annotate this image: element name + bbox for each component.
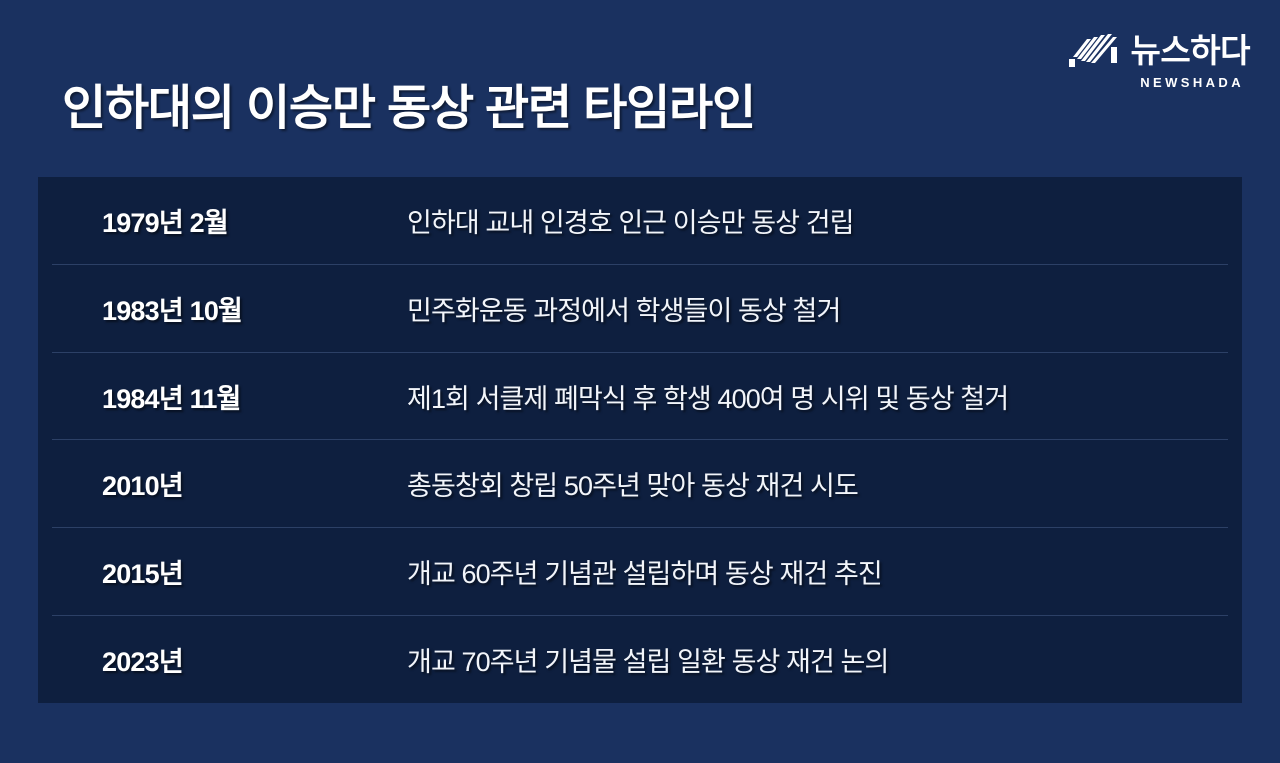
brand-logo[interactable]: 뉴스하다 NEWSHADA (1034, 28, 1250, 94)
table-row: 2015년 개교 60주년 기념관 설립하며 동상 재건 추진 (52, 528, 1228, 616)
header: 인하대의 이승만 동상 관련 타임라인 뉴스하다 (0, 0, 1280, 176)
timeline-panel: 1979년 2월 인하대 교내 인경호 인근 이승만 동상 건립 1983년 1… (38, 177, 1242, 703)
table-row: 2010년 총동창회 창립 50주년 맞아 동상 재건 시도 (52, 440, 1228, 528)
timeline-date: 2023년 (52, 615, 364, 703)
slide-root: 인하대의 이승만 동상 관련 타임라인 뉴스하다 (0, 0, 1280, 763)
timeline-description: 민주화운동 과정에서 학생들이 동상 철거 (364, 265, 1228, 353)
table-row: 1979년 2월 인하대 교내 인경호 인근 이승만 동상 건립 (52, 177, 1228, 265)
logo-wordmark: 뉴스하다 (1131, 34, 1250, 67)
timeline-description: 개교 60주년 기념관 설립하며 동상 재건 추진 (364, 528, 1228, 616)
timeline-description: 개교 70주년 기념물 설립 일환 동상 재건 논의 (364, 615, 1228, 703)
timeline-description: 인하대 교내 인경호 인근 이승만 동상 건립 (364, 177, 1228, 265)
diagonal-stripes-logo-icon (1067, 29, 1123, 71)
timeline-table-body: 1979년 2월 인하대 교내 인경호 인근 이승만 동상 건립 1983년 1… (52, 177, 1228, 703)
timeline-date: 1983년 10월 (52, 265, 364, 353)
logo-top-row: 뉴스하다 (1067, 28, 1250, 72)
timeline-date: 1984년 11월 (52, 352, 364, 440)
logo-subtext: NEWSHADA (1140, 75, 1244, 90)
table-row: 1984년 11월 제1회 서클제 폐막식 후 학생 400여 명 시위 및 동… (52, 352, 1228, 440)
timeline-description: 총동창회 창립 50주년 맞아 동상 재건 시도 (364, 440, 1228, 528)
timeline-date: 2010년 (52, 440, 364, 528)
page-title: 인하대의 이승만 동상 관련 타임라인 (62, 81, 755, 136)
timeline-date: 2015년 (52, 528, 364, 616)
timeline-description: 제1회 서클제 폐막식 후 학생 400여 명 시위 및 동상 철거 (364, 352, 1228, 440)
timeline-date: 1979년 2월 (52, 177, 364, 265)
timeline-table: 1979년 2월 인하대 교내 인경호 인근 이승만 동상 건립 1983년 1… (52, 177, 1228, 703)
table-row: 1983년 10월 민주화운동 과정에서 학생들이 동상 철거 (52, 265, 1228, 353)
table-row: 2023년 개교 70주년 기념물 설립 일환 동상 재건 논의 (52, 615, 1228, 703)
